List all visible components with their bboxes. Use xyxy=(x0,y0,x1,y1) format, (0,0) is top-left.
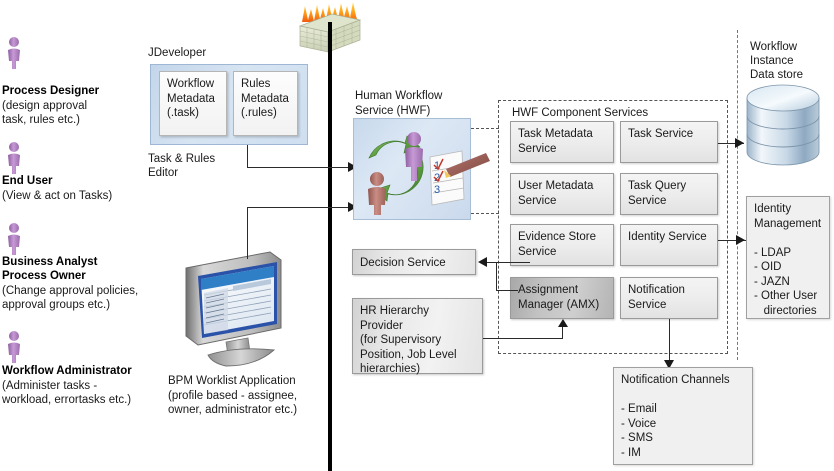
jdeveloper-rules-metadata-box: RulesMetadata(.rules) xyxy=(233,71,298,136)
assignment-manager-l2: Manager (AMX) xyxy=(518,299,599,311)
notification-service-l1: Notification xyxy=(628,284,685,296)
actor-desc-business-analyst-2: approval groups etc.) xyxy=(2,298,110,313)
connector-hr-to-amx-h xyxy=(483,338,563,339)
identity-management-item-4: directories xyxy=(754,305,817,317)
connector-to-decision-service-h xyxy=(486,262,530,263)
connector-jdev-vertical xyxy=(247,145,248,167)
service-box-task-metadata-service[interactable]: Task MetadataService xyxy=(510,121,614,163)
jdeveloper-title: JDeveloper xyxy=(148,46,206,61)
connector-to-decision-service-v xyxy=(496,262,497,290)
identity-management-box[interactable]: IdentityManagement- LDAP- OID- JAZN- Oth… xyxy=(746,196,830,319)
task-query-service-l2: Service xyxy=(628,195,666,207)
identity-service-l1: Identity Service xyxy=(628,231,707,243)
workflow-metadata-l3: (.task) xyxy=(167,107,199,119)
connector-hwf-to-services-top xyxy=(471,128,499,129)
actor-name-end-user: End User xyxy=(2,174,53,189)
identity-management-title-1: Identity xyxy=(754,203,791,215)
service-box-identity-service[interactable]: Identity Service xyxy=(620,224,718,266)
decision-service-box[interactable]: Decision Service xyxy=(352,249,476,275)
jdeveloper-caption-2: Editor xyxy=(148,166,178,181)
hr-hierarchy-l5: hierarchies) xyxy=(360,363,420,375)
hr-hierarchy-l3: (for Supervisory xyxy=(360,334,441,346)
user-metadata-service-l1: User Metadata xyxy=(518,180,593,192)
notification-channels-item-2: - SMS xyxy=(621,432,653,444)
datastore-title-2: Instance xyxy=(750,54,793,69)
actor-name-process-owner: Process Owner xyxy=(2,269,86,284)
service-box-user-metadata-service[interactable]: User MetadataService xyxy=(510,173,614,215)
user-metadata-service-l2: Service xyxy=(518,195,556,207)
workflow-metadata-l1: Workflow xyxy=(167,78,214,90)
service-box-notification-service[interactable]: NotificationService xyxy=(620,277,718,319)
service-box-assignment-manager[interactable]: AssignmentManager (AMX) xyxy=(510,277,614,319)
hr-hierarchy-provider-box[interactable]: HR HierarchyProvider(for SupervisoryPosi… xyxy=(352,298,483,374)
hwf-title-1: Human Workflow xyxy=(355,89,442,104)
identity-management-item-1: - OID xyxy=(754,261,781,273)
notification-channels-box[interactable]: Notification Channels- Email- Voice- SMS… xyxy=(613,367,753,465)
task-query-service-l1: Task Query xyxy=(628,180,686,192)
notification-channels-title: Notification Channels xyxy=(621,374,730,386)
datastore-title-1: Workflow xyxy=(750,40,797,55)
task-metadata-service-l1: Task Metadata xyxy=(518,128,593,140)
notification-channels-item-1: - Voice xyxy=(621,418,656,430)
bpm-worklist-caption-2: (profile based - assignee, xyxy=(168,389,297,404)
connector-to-decision-service-h2 xyxy=(496,290,518,291)
hr-hierarchy-l1: HR Hierarchy xyxy=(360,305,429,317)
actor-desc-end-user-1: (View & act on Tasks) xyxy=(2,189,112,204)
arrowhead-task-service-to-datastore xyxy=(735,137,747,149)
service-box-task-service[interactable]: Task Service xyxy=(620,121,718,163)
hr-hierarchy-l2: Provider xyxy=(360,320,403,332)
evidence-store-service-l2: Service xyxy=(518,246,556,258)
actor-desc-process-designer-1: (design approval xyxy=(2,99,87,114)
connector-jdev-horizontal xyxy=(247,167,355,168)
task-service-l1: Task Service xyxy=(628,128,693,140)
notification-channels-item-0: - Email xyxy=(621,403,657,415)
notification-service-l2: Service xyxy=(628,299,666,311)
workflow-metadata-l2: Metadata xyxy=(167,93,215,105)
hwf-component-services-title: HWF Component Services xyxy=(512,106,648,121)
evidence-store-service-l1: Evidence Store xyxy=(518,231,596,243)
hwf-panel: 1 2 3 xyxy=(353,118,471,220)
task-metadata-service-l2: Service xyxy=(518,143,556,155)
actor-desc-process-designer-2: task, rules etc.) xyxy=(2,113,80,128)
rules-metadata-l1: Rules xyxy=(241,78,270,90)
connector-hwf-to-services-bottom xyxy=(471,213,499,214)
identity-management-item-0: - LDAP xyxy=(754,247,791,259)
bpm-worklist-caption-1: BPM Worklist Application xyxy=(168,374,296,389)
actor-name-business-analyst: Business Analyst xyxy=(2,255,97,270)
actor-icon-process-designer xyxy=(4,36,24,70)
arrowhead-hr-to-amx xyxy=(557,317,569,329)
actor-desc-workflow-administrator-2: workload, errortasks etc.) xyxy=(2,393,131,408)
hwf-title-2: Service (HWF) xyxy=(355,104,430,119)
connector-worklist-vertical xyxy=(247,207,248,259)
decision-service-label: Decision Service xyxy=(360,257,446,269)
database-cylinder-icon xyxy=(744,84,822,168)
bpm-worklist-caption-3: owner, administrator etc.) xyxy=(168,403,297,418)
arrowhead-identity-service-to-idm xyxy=(736,234,748,246)
connector-worklist-horizontal xyxy=(247,207,355,208)
jdeveloper-workflow-metadata-box: WorkflowMetadata(.task) xyxy=(159,71,227,136)
datastore-title-3: Data store xyxy=(750,68,803,83)
right-zone-dashed-boundary xyxy=(737,30,738,360)
identity-management-item-3: - Other User xyxy=(754,290,817,302)
architecture-diagram: Process Designer (design approval task, … xyxy=(0,0,834,471)
identity-management-item-2: - JAZN xyxy=(754,276,790,288)
service-box-evidence-store-service[interactable]: Evidence StoreService xyxy=(510,224,614,266)
hr-hierarchy-l4: Position, Job Level xyxy=(360,349,457,361)
identity-management-title-2: Management xyxy=(754,218,821,230)
assignment-manager-l1: Assignment xyxy=(518,284,578,296)
rules-metadata-l3: (.rules) xyxy=(241,107,277,119)
bpm-worklist-monitor-icon xyxy=(178,250,288,368)
svg-text:3: 3 xyxy=(434,184,440,196)
actor-desc-workflow-administrator-1: (Administer tasks - xyxy=(2,379,97,394)
jdeveloper-caption-1: Task & Rules xyxy=(148,152,215,167)
actor-name-workflow-administrator: Workflow Administrator xyxy=(2,364,132,379)
hwf-illustration: 1 2 3 xyxy=(354,119,470,219)
firewall-boundary-line xyxy=(328,22,332,471)
arrowhead-to-decision-service xyxy=(476,256,488,268)
notification-channels-item-3: - IM xyxy=(621,447,641,459)
rules-metadata-l2: Metadata xyxy=(241,93,289,105)
actor-icon-end-user xyxy=(4,141,24,175)
actor-name-process-designer: Process Designer xyxy=(2,84,99,99)
service-box-task-query-service[interactable]: Task QueryService xyxy=(620,173,718,215)
actor-desc-business-analyst-1: (Change approval policies, xyxy=(2,284,138,299)
actor-icon-business-analyst xyxy=(4,222,24,256)
actor-icon-workflow-administrator xyxy=(4,330,24,364)
